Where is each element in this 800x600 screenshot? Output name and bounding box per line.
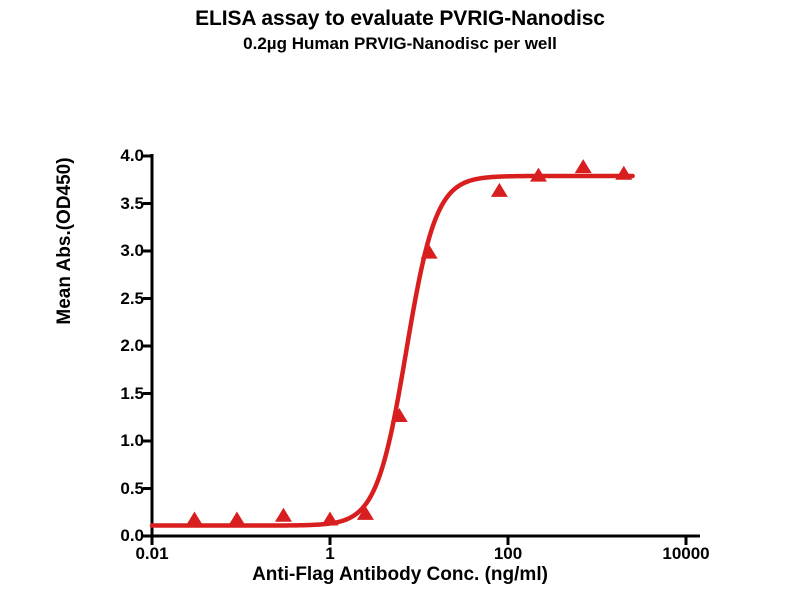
plot-area <box>0 0 800 600</box>
axis-lines <box>151 154 701 536</box>
chart-figure: ELISA assay to evaluate PVRIG-Nanodisc 0… <box>0 0 800 600</box>
data-point-marker <box>275 508 292 522</box>
data-point-marker <box>491 183 508 197</box>
data-point-marker <box>615 166 632 180</box>
data-point-marker <box>322 512 339 526</box>
data-point-marker <box>575 159 592 173</box>
fit-curve <box>152 176 633 526</box>
data-point-marker <box>186 512 203 526</box>
data-point-marker <box>228 512 245 526</box>
